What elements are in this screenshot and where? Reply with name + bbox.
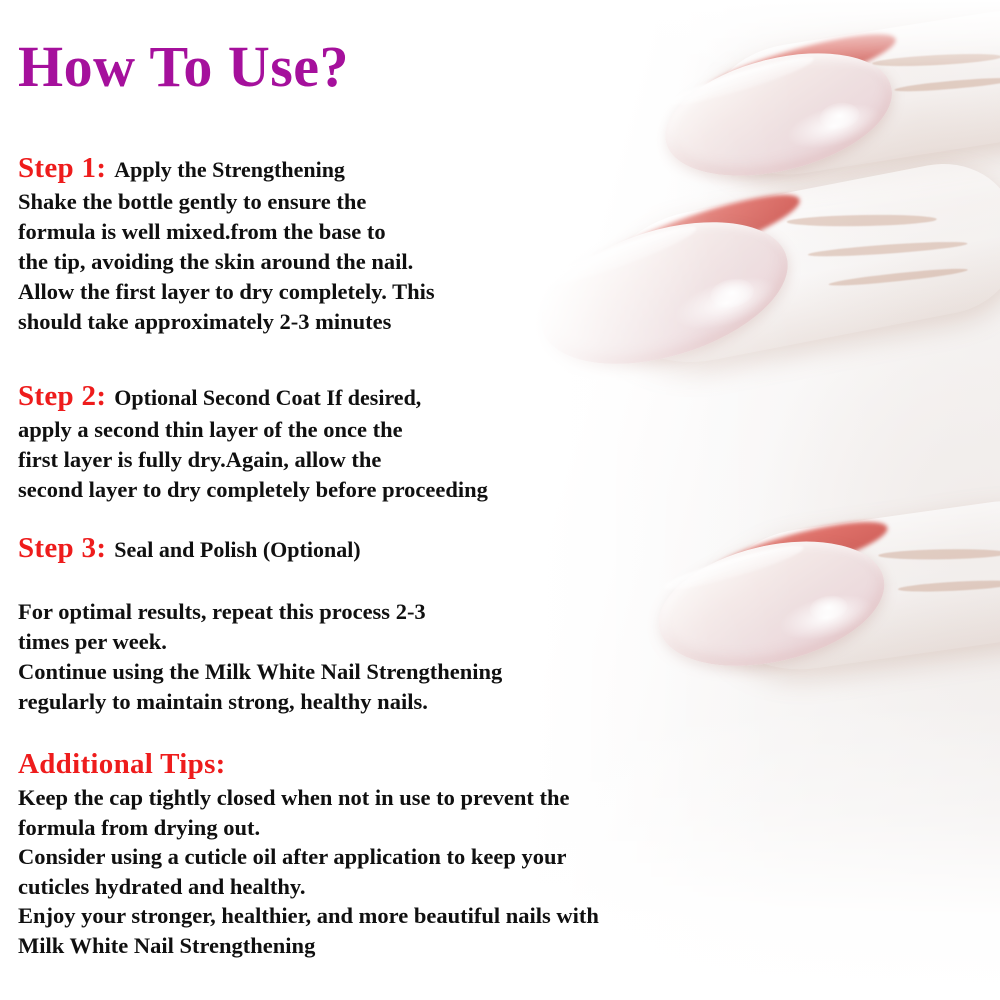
- additional-tips-heading: Additional Tips:: [18, 748, 599, 781]
- step-1-line: formula is well mixed.from the base to: [18, 217, 435, 247]
- how-to-use-infographic: How To Use? Step 1: Apply the Strengthen…: [0, 0, 1000, 1000]
- step-2-label: Step 2:: [18, 380, 106, 413]
- additional-tips-block: Additional Tips: Keep the cap tightly cl…: [18, 748, 599, 960]
- closing-line: Continue using the Milk White Nail Stren…: [18, 657, 502, 687]
- page-title: How To Use?: [18, 38, 349, 96]
- step-3-lead: Seal and Polish (Optional): [114, 537, 360, 563]
- tips-line: Milk White Nail Strengthening: [18, 931, 599, 961]
- step-1-label: Step 1:: [18, 152, 106, 185]
- closing-line: regularly to maintain strong, healthy na…: [18, 687, 502, 717]
- closing-block: For optimal results, repeat this process…: [18, 597, 502, 717]
- step-2-line: first layer is fully dry.Again, allow th…: [18, 445, 488, 475]
- step-1-headline: Step 1: Apply the Strengthening: [18, 152, 435, 185]
- step-2-lead: Optional Second Coat If desired,: [114, 385, 421, 411]
- tips-line: Consider using a cuticle oil after appli…: [18, 842, 599, 872]
- step-2-headline: Step 2: Optional Second Coat If desired,: [18, 380, 488, 413]
- closing-line: For optimal results, repeat this process…: [18, 597, 502, 627]
- instructions-text: How To Use? Step 1: Apply the Strengthen…: [0, 0, 1000, 1000]
- step-3-headline: Step 3: Seal and Polish (Optional): [18, 532, 361, 565]
- tips-line: Keep the cap tightly closed when not in …: [18, 783, 599, 813]
- closing-line: times per week.: [18, 627, 502, 657]
- step-1-block: Step 1: Apply the Strengthening Shake th…: [18, 152, 435, 337]
- step-1-line: Shake the bottle gently to ensure the: [18, 187, 435, 217]
- step-1-lead: Apply the Strengthening: [114, 157, 345, 183]
- tips-line: formula from drying out.: [18, 813, 599, 843]
- tips-line: cuticles hydrated and healthy.: [18, 872, 599, 902]
- step-2-line: second layer to dry completely before pr…: [18, 475, 488, 505]
- step-3-block: Step 3: Seal and Polish (Optional): [18, 532, 361, 567]
- tips-line: Enjoy your stronger, healthier, and more…: [18, 901, 599, 931]
- step-1-line: should take approximately 2-3 minutes: [18, 307, 435, 337]
- step-1-line: Allow the first layer to dry completely.…: [18, 277, 435, 307]
- step-2-line: apply a second thin layer of the once th…: [18, 415, 488, 445]
- step-1-line: the tip, avoiding the skin around the na…: [18, 247, 435, 277]
- step-3-label: Step 3:: [18, 532, 106, 565]
- step-2-block: Step 2: Optional Second Coat If desired,…: [18, 380, 488, 505]
